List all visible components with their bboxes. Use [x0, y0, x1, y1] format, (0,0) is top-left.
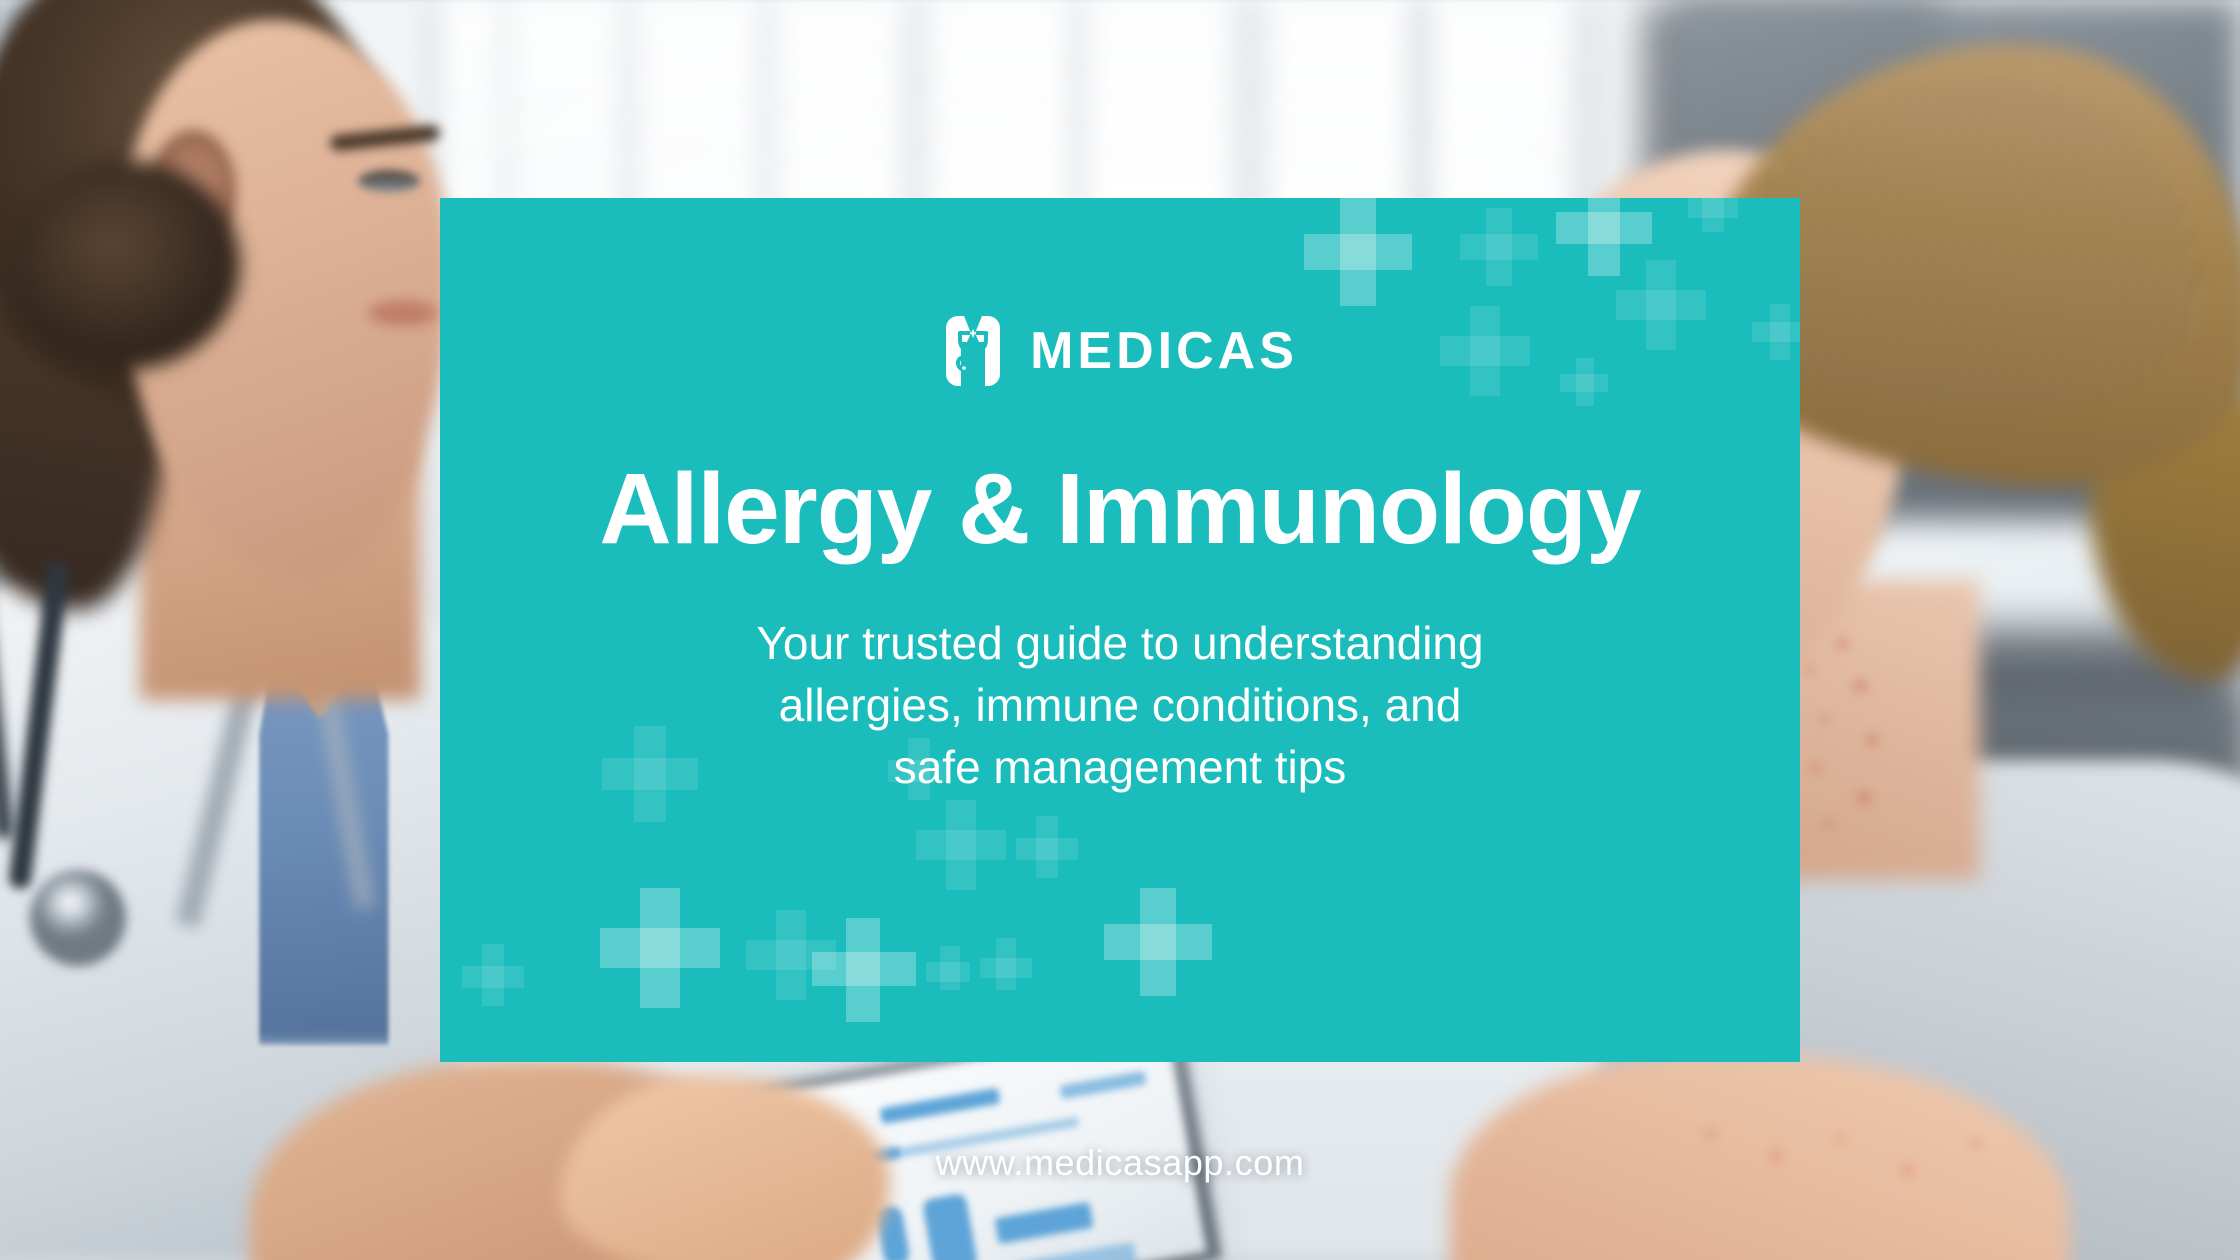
poster-canvas: MEDICAS Allergy & Immunology Your truste… — [0, 0, 2240, 1260]
brand-name: MEDICAS — [1030, 325, 1298, 377]
page-subtitle: Your trusted guide to understanding alle… — [756, 612, 1483, 798]
subtitle-line-3: safe management tips — [894, 741, 1347, 793]
subtitle-line-2: allergies, immune conditions, and — [779, 679, 1462, 731]
website-url[interactable]: www.medicasapp.com — [0, 1142, 2240, 1184]
brand-logo: MEDICAS — [942, 316, 1298, 386]
subtitle-line-1: Your trusted guide to understanding — [756, 617, 1483, 669]
stethoscope-icon — [30, 870, 126, 966]
stethoscope-m-monogram-icon — [942, 316, 1004, 386]
page-title: Allergy & Immunology — [599, 458, 1640, 560]
hero-card: MEDICAS Allergy & Immunology Your truste… — [440, 198, 1800, 1062]
